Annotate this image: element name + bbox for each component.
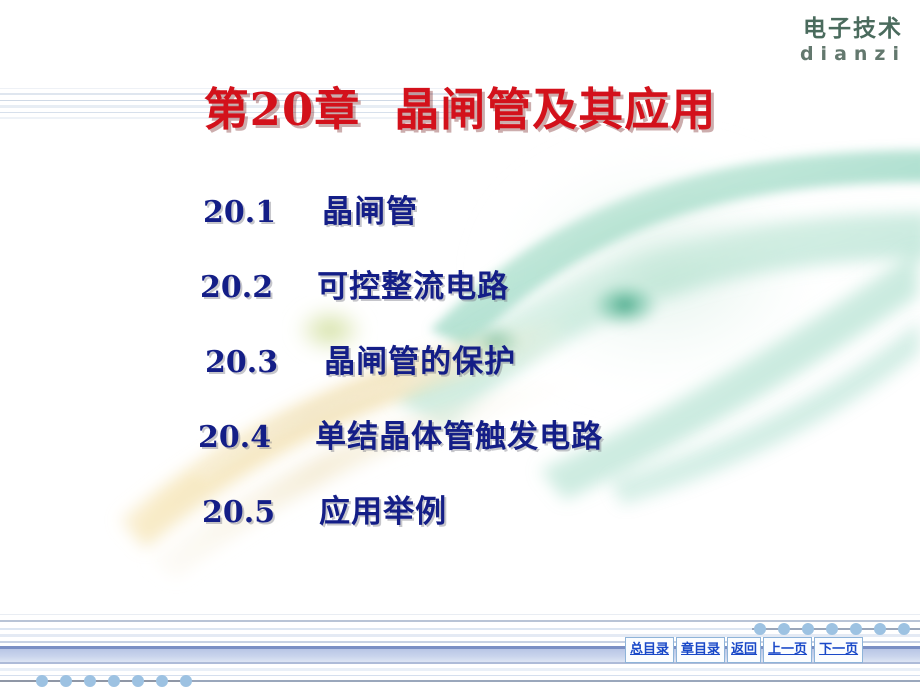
title-chapter-name: 晶闸管及其应用 (394, 83, 716, 136)
toc-item-label: 可控整流电路 (317, 261, 509, 306)
slide-canvas: 电子技术 dianzi 第20章晶闸管及其应用 20.1晶闸管 20.2可控整流… (0, 0, 920, 690)
toc-item-number: 20.2 (200, 270, 273, 305)
course-logo: 电子技术 dianzi (800, 18, 906, 64)
table-of-contents: 20.1晶闸管 20.2可控整流电路 20.3晶闸管的保护 20.4单结晶体管触… (0, 186, 920, 561)
toc-item-label: 应用举例 (319, 486, 447, 531)
bottom-rule-upper (0, 612, 920, 624)
logo-chinese-text: 电子技术 (800, 18, 906, 41)
toc-item-number: 20.1 (203, 195, 276, 230)
dot-row-line (0, 680, 190, 682)
toc-item-20-1[interactable]: 20.1晶闸管 (0, 186, 920, 261)
toc-item-20-3[interactable]: 20.3晶闸管的保护 (0, 336, 920, 411)
toc-item-20-4[interactable]: 20.4单结晶体管触发电路 (0, 411, 920, 486)
toc-item-number: 20.5 (202, 495, 275, 530)
toc-item-20-5[interactable]: 20.5应用举例 (0, 486, 920, 561)
logo-pinyin-text: dianzi (800, 45, 906, 64)
nav-button-next-page[interactable]: 下一页 (814, 637, 863, 663)
toc-item-label: 晶闸管的保护 (324, 336, 516, 381)
nav-button-back[interactable]: 返回 (727, 637, 761, 663)
toc-item-label: 单结晶体管触发电路 (315, 411, 603, 456)
nav-button-chapter-contents[interactable]: 章目录 (676, 637, 725, 663)
page-title: 第20章晶闸管及其应用 (0, 73, 920, 138)
navigation-bar: 总目录 章目录 返回 上一页 下一页 (625, 637, 863, 663)
toc-item-label: 晶闸管 (322, 186, 418, 231)
dot-row-right (752, 622, 920, 636)
nav-button-previous-page[interactable]: 上一页 (763, 637, 812, 663)
dot-row-line (752, 628, 920, 630)
toc-item-number: 20.4 (198, 420, 271, 455)
nav-button-main-contents[interactable]: 总目录 (625, 637, 674, 663)
title-chapter-number: 第20章 (204, 83, 361, 136)
dot-row-left (0, 674, 190, 688)
toc-item-20-2[interactable]: 20.2可控整流电路 (0, 261, 920, 336)
toc-item-number: 20.3 (205, 345, 278, 380)
